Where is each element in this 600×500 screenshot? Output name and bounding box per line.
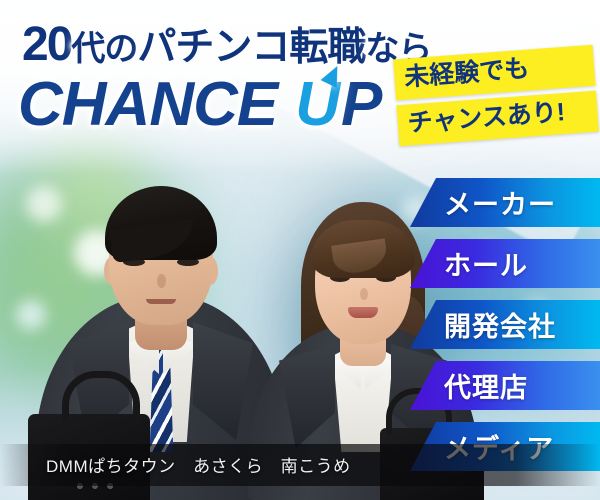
caption-text: DMMぱちタウン あさくら 南こうめ (0, 452, 600, 477)
category-item-hall[interactable]: ホール (410, 239, 600, 288)
recruitment-banner: 20代のパチンコ転職なら CHANCE U P 未経験でも チャンスあり! メー… (0, 0, 600, 500)
category-label-agency: 代理店 (444, 366, 528, 405)
category-list: メーカー ホール 開発会社 代理店 メディア (410, 178, 600, 483)
headline-number: 20 (22, 18, 71, 71)
category-label-developer: 開発会社 (444, 305, 556, 344)
businesswoman-mouth (348, 307, 378, 318)
headline-text: 20代のパチンコ転職なら (22, 16, 431, 72)
headline-part-a: 代の (71, 30, 137, 68)
logo-letter-p: P (341, 74, 381, 136)
businessman-mouth (146, 299, 176, 304)
category-item-maker[interactable]: メーカー (410, 178, 600, 227)
logo-letter-u: U (295, 74, 339, 136)
category-label-hall: ホール (444, 244, 528, 283)
category-item-agency[interactable]: 代理店 (410, 361, 600, 410)
no-experience-badge: 未経験でも チャンスあり! (393, 45, 599, 146)
category-label-maker: メーカー (444, 183, 556, 222)
businesswoman-nose (360, 288, 368, 300)
chance-up-logo: CHANCE U P (18, 74, 381, 136)
logo-word-chance: CHANCE (18, 74, 277, 136)
category-item-developer[interactable]: 開発会社 (410, 300, 600, 349)
briefcase-handle (62, 371, 140, 422)
businessman-nose (157, 274, 166, 288)
